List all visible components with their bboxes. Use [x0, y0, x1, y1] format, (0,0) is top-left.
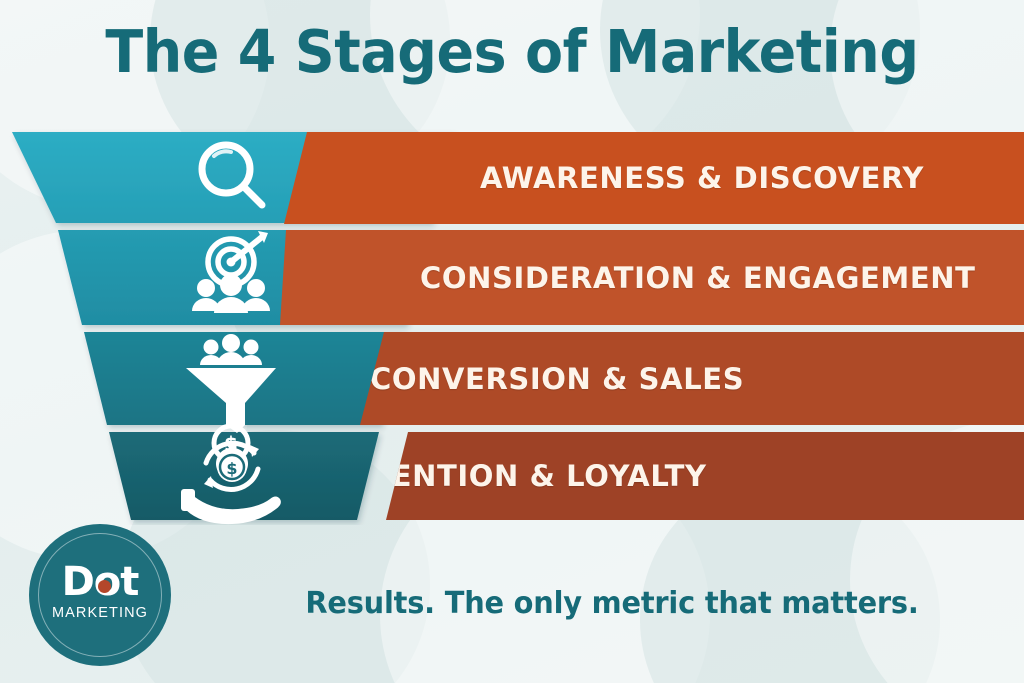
marketing-funnel-infographic: The 4 Stages of Marketing	[0, 0, 1024, 683]
page-title: The 4 Stages of Marketing	[31, 22, 994, 81]
dot-marketing-logo[interactable]: Dot MARKETING	[29, 524, 171, 666]
stage-bar-conversion[interactable]: CONVERSION & SALES	[280, 332, 1024, 425]
stage-bar-consideration[interactable]: CONSIDERATION & ENGAGEMENT	[280, 230, 1024, 325]
tagline: Results. The only metric that matters.	[216, 586, 1007, 621]
stage-label-conversion: CONVERSION & SALES	[370, 362, 744, 396]
stage-label-retention: RETENTION & LOYALTY	[328, 459, 707, 493]
stage-label-awareness: AWARENESS & DISCOVERY	[480, 161, 924, 195]
svg-text:$: $	[226, 459, 237, 478]
stage-bar-awareness[interactable]: AWARENESS & DISCOVERY	[280, 132, 1024, 224]
stage-bar-retention[interactable]: RETENTION & LOYALTY	[280, 432, 1024, 520]
logo-subtitle: MARKETING	[29, 606, 171, 621]
stage-bars: AWARENESS & DISCOVERY CONSIDERATION & EN…	[280, 125, 1024, 525]
logo-dot-accent	[98, 580, 111, 593]
stage-label-consideration: CONSIDERATION & ENGAGEMENT	[420, 261, 976, 295]
